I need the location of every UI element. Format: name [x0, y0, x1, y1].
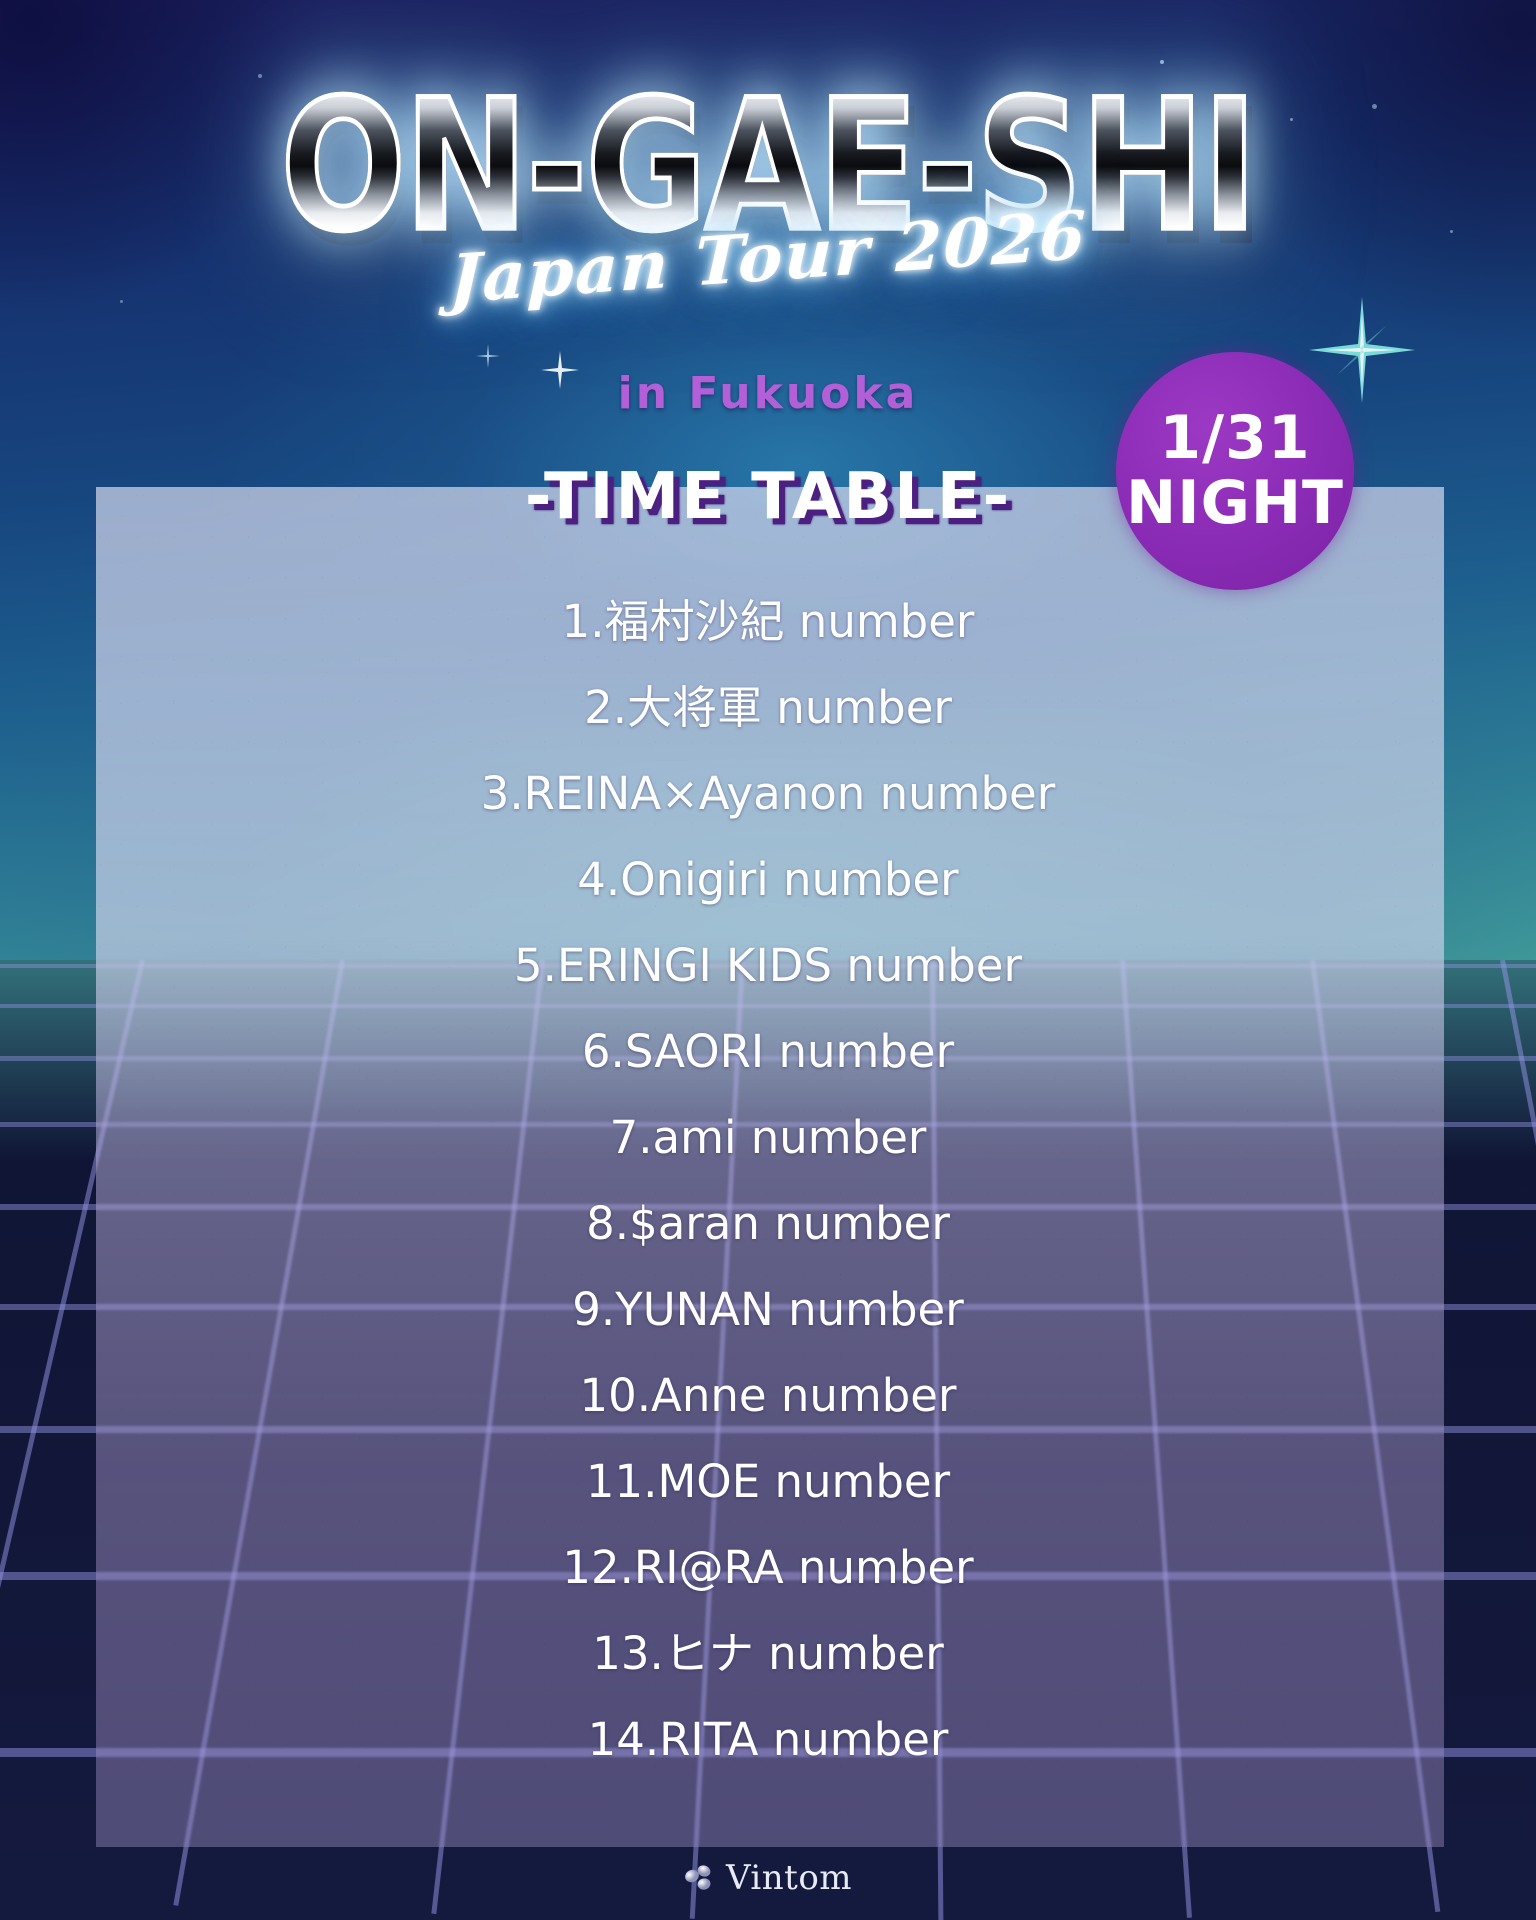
poster-root: ON-GAE-SHI Japan Tour 2026 in Fukuoka -T… [0, 0, 1536, 1920]
brand-name: Vintom [726, 1858, 852, 1898]
list-item: 4.Onigiri number [0, 836, 1536, 922]
list-item: 9.YUNAN number [0, 1266, 1536, 1352]
badge-date: 1/31 [1159, 406, 1310, 471]
list-item: 13.ヒナ number [0, 1610, 1536, 1696]
list-item: 7.ami number [0, 1094, 1536, 1180]
date-badge: 1/31 NIGHT [1116, 352, 1354, 590]
title-block: ON-GAE-SHI [0, 92, 1536, 240]
star-dot-icon [120, 300, 123, 303]
list-item: 14.RITA number [0, 1696, 1536, 1782]
list-item: 2.大将軍 number [0, 664, 1536, 750]
list-item: 5.ERINGI KIDS number [0, 922, 1536, 1008]
timetable-list: 1.福村沙紀 number 2.大将軍 number 3.REINA×Ayano… [0, 578, 1536, 1782]
list-item: 1.福村沙紀 number [0, 578, 1536, 664]
trefoil-logo-icon [684, 1863, 716, 1893]
badge-session: NIGHT [1126, 471, 1344, 536]
list-item: 12.RI@RA number [0, 1524, 1536, 1610]
star-dot-icon [258, 74, 262, 78]
list-item: 8.$aran number [0, 1180, 1536, 1266]
section-heading-text: -TIME TABLE- [525, 460, 1011, 534]
list-item: 11.MOE number [0, 1438, 1536, 1524]
list-item: 3.REINA×Ayanon number [0, 750, 1536, 836]
city-line-text: in Fukuoka [618, 368, 919, 419]
footer-branding: Vintom [0, 1858, 1536, 1898]
list-item: 6.SAORI number [0, 1008, 1536, 1094]
page-title: ON-GAE-SHI [280, 76, 1255, 257]
list-item: 10.Anne number [0, 1352, 1536, 1438]
